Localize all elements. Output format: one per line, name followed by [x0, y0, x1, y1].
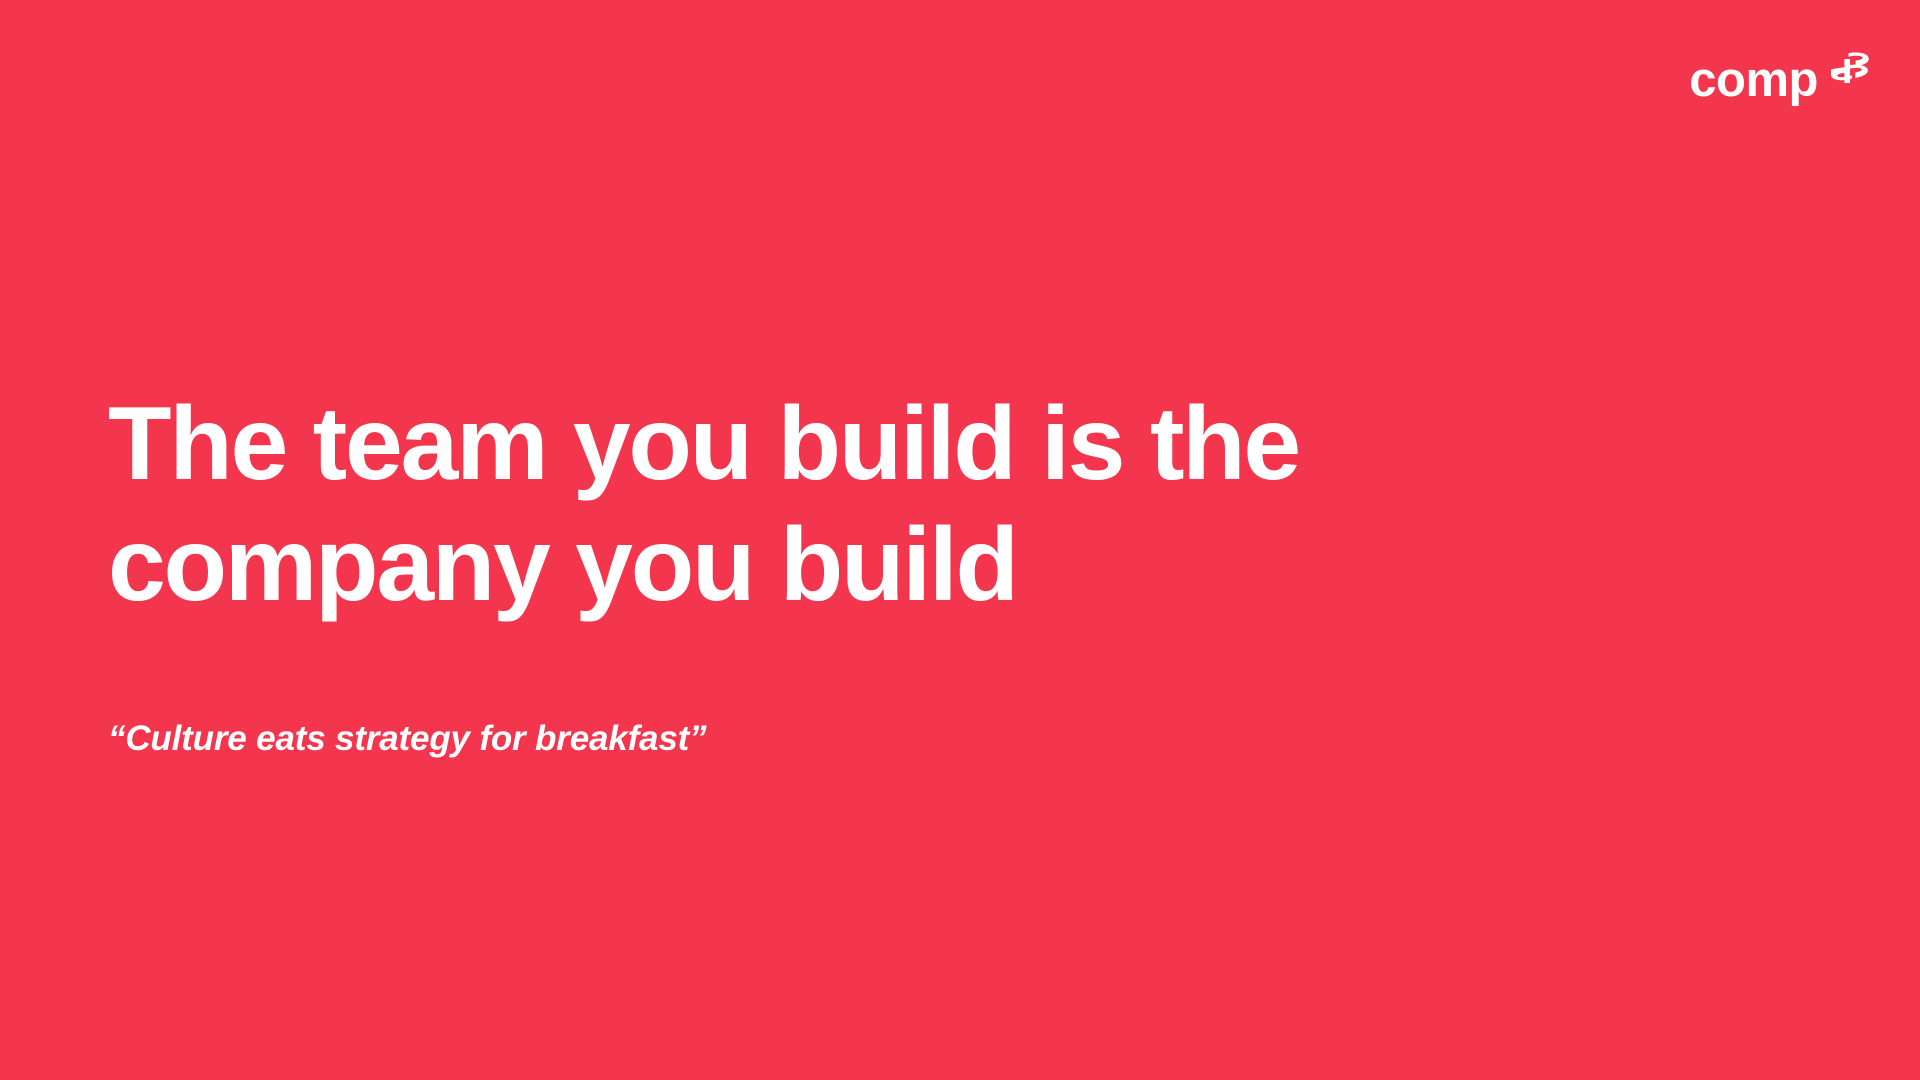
comp-ribbon-mark-icon	[1828, 48, 1872, 92]
brand-logo[interactable]: comp	[1689, 46, 1872, 102]
slide-content: The team you build is the company you bu…	[108, 384, 1608, 761]
page-title: The team you build is the company you bu…	[108, 384, 1478, 625]
headline-line-2: company you build	[108, 505, 1478, 626]
slide-canvas: comp The team you build is the company y…	[0, 0, 1920, 1080]
headline-line-1: The team you build is the	[108, 384, 1478, 505]
brand-wordmark: comp	[1689, 56, 1818, 105]
subtitle-quote: “Culture eats strategy for breakfast”	[108, 625, 1608, 761]
